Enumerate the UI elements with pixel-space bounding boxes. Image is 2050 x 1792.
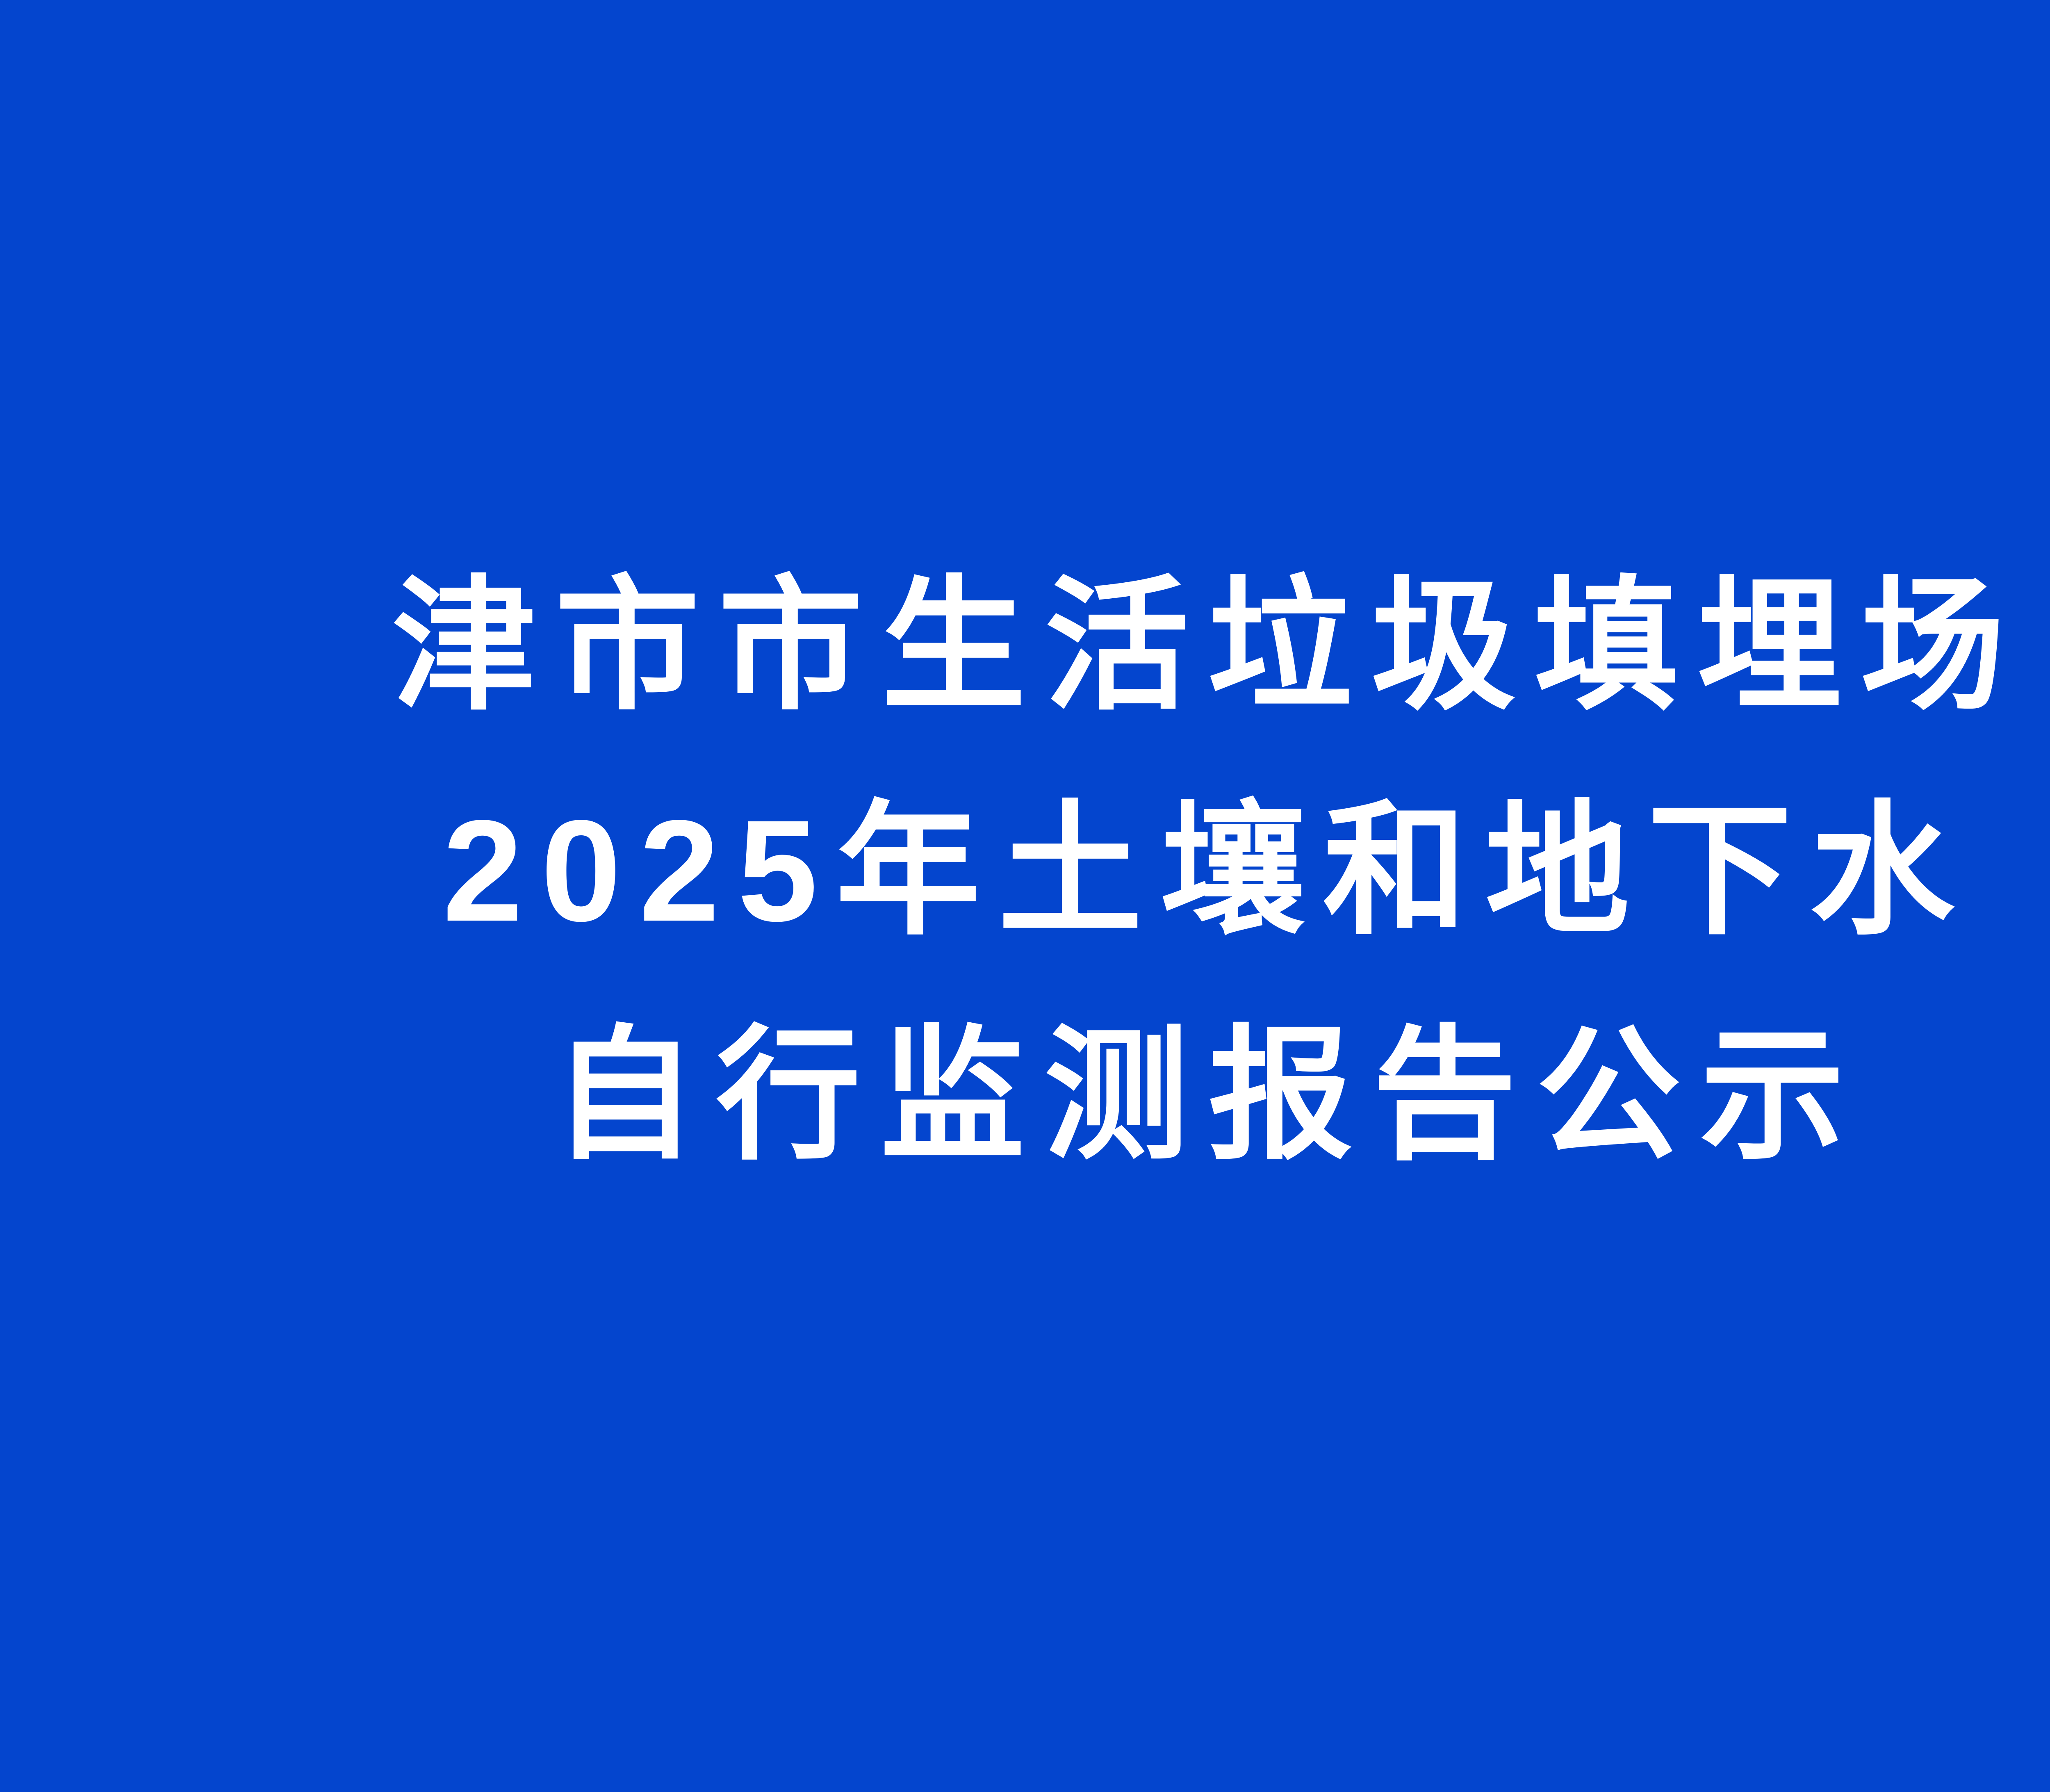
headline-line-3: 自行监测报告公示: [533, 1023, 1864, 1167]
headline-line-1: 津市市生活垃圾填埋场: [373, 574, 2024, 718]
headline-block: 津市市生活垃圾填埋场 2025年土壤和地下水 自行监测报告公示: [0, 574, 2050, 1167]
announcement-banner: 津市市生活垃圾填埋场 2025年土壤和地下水 自行监测报告公示: [0, 0, 2050, 1792]
headline-line-2: 2025年土壤和地下水: [424, 798, 1972, 943]
